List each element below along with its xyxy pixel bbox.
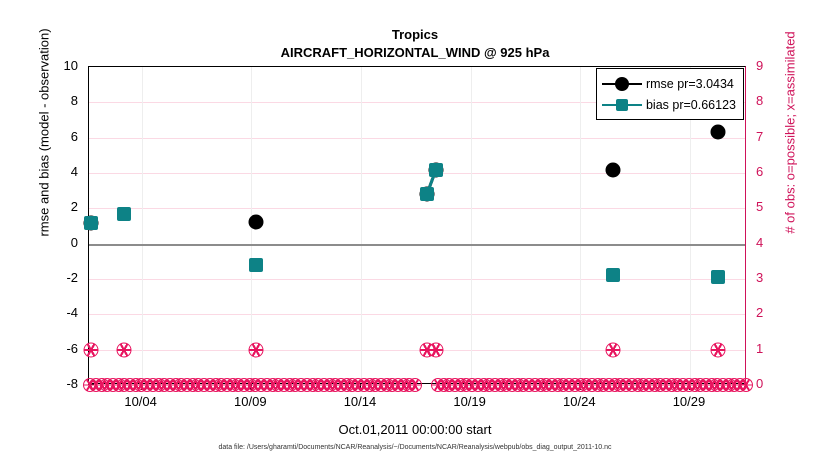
obs-marker	[84, 342, 99, 357]
obs-marker	[428, 342, 443, 357]
legend-item-rmse[interactable]: rmse pr=3.0434	[602, 73, 736, 94]
obs-marker	[117, 342, 132, 357]
y-tick-label-left: 2	[18, 199, 78, 214]
legend-item-bias[interactable]: bias pr=0.66123	[602, 94, 736, 115]
y-tick-label-right: 6	[756, 164, 796, 179]
y-tick-label-right: 7	[756, 129, 796, 144]
gridline-vertical	[361, 67, 362, 383]
obs-marker	[408, 378, 422, 392]
chart-title: Tropics	[0, 26, 830, 44]
legend-label-bias: bias pr=0.66123	[646, 98, 736, 112]
gridline-horizontal	[89, 314, 745, 315]
chart-title-block: Tropics AIRCRAFT_HORIZONTAL_WIND @ 925 h…	[0, 26, 830, 62]
bias-data-point	[249, 258, 263, 272]
bias-data-point	[711, 270, 725, 284]
chart-canvas: Tropics AIRCRAFT_HORIZONTAL_WIND @ 925 h…	[0, 0, 830, 470]
rmse-data-point	[248, 214, 263, 229]
bias-data-point	[117, 207, 131, 221]
y-tick-label-left: -6	[18, 341, 78, 356]
obs-marker	[739, 378, 753, 392]
y-tick-label-right: 0	[756, 376, 796, 391]
bias-data-point	[429, 163, 443, 177]
y-tick-label-right: 2	[756, 305, 796, 320]
chart-legend[interactable]: rmse pr=3.0434 bias pr=0.66123	[596, 68, 744, 120]
y-tick-label-left: 0	[18, 235, 78, 250]
y-tick-label-left: 8	[18, 93, 78, 108]
y-tick-label-right: 5	[756, 199, 796, 214]
x-tick-label: 10/14	[320, 394, 400, 409]
y-tick-label-right: 9	[756, 58, 796, 73]
obs-marker	[711, 342, 726, 357]
gridline-horizontal	[89, 173, 745, 174]
plot-area: rmse pr=3.0434 bias pr=0.66123	[88, 66, 746, 384]
gridline-vertical	[471, 67, 472, 383]
x-tick-label: 10/29	[649, 394, 729, 409]
y-tick-label-left: -8	[18, 376, 78, 391]
legend-label-rmse: rmse pr=3.0434	[646, 77, 734, 91]
obs-marker	[248, 342, 263, 357]
gridline-horizontal	[89, 208, 745, 209]
zero-reference-line	[89, 244, 745, 246]
data-file-footer: data file: /Users/gharamti/Documents/NCA…	[0, 444, 830, 451]
x-tick-label: 10/19	[430, 394, 510, 409]
y-tick-label-left: -4	[18, 305, 78, 320]
gridline-horizontal	[89, 350, 745, 351]
gridline-horizontal	[89, 138, 745, 139]
y-tick-label-right: 1	[756, 341, 796, 356]
legend-marker-circle-icon	[602, 77, 642, 91]
y-tick-label-left: -2	[18, 270, 78, 285]
y-tick-label-left: 6	[18, 129, 78, 144]
x-tick-label: 10/09	[210, 394, 290, 409]
x-axis-label: Oct.01,2011 00:00:00 start	[0, 422, 830, 437]
chart-subtitle: AIRCRAFT_HORIZONTAL_WIND @ 925 hPa	[0, 44, 830, 62]
y-tick-label-left: 10	[18, 58, 78, 73]
y-tick-label-right: 4	[756, 235, 796, 250]
bias-data-point	[420, 187, 434, 201]
bias-data-point	[606, 268, 620, 282]
gridline-vertical	[580, 67, 581, 383]
rmse-data-point	[606, 163, 621, 178]
gridline-vertical	[142, 67, 143, 383]
legend-marker-square-icon	[602, 98, 642, 112]
y-tick-label-left: 4	[18, 164, 78, 179]
x-tick-label: 10/24	[539, 394, 619, 409]
obs-marker	[606, 342, 621, 357]
y-tick-label-right: 8	[756, 93, 796, 108]
rmse-data-point	[711, 125, 726, 140]
y-tick-label-right: 3	[756, 270, 796, 285]
gridline-horizontal	[89, 279, 745, 280]
bias-data-point	[84, 216, 98, 230]
x-tick-label: 10/04	[101, 394, 181, 409]
